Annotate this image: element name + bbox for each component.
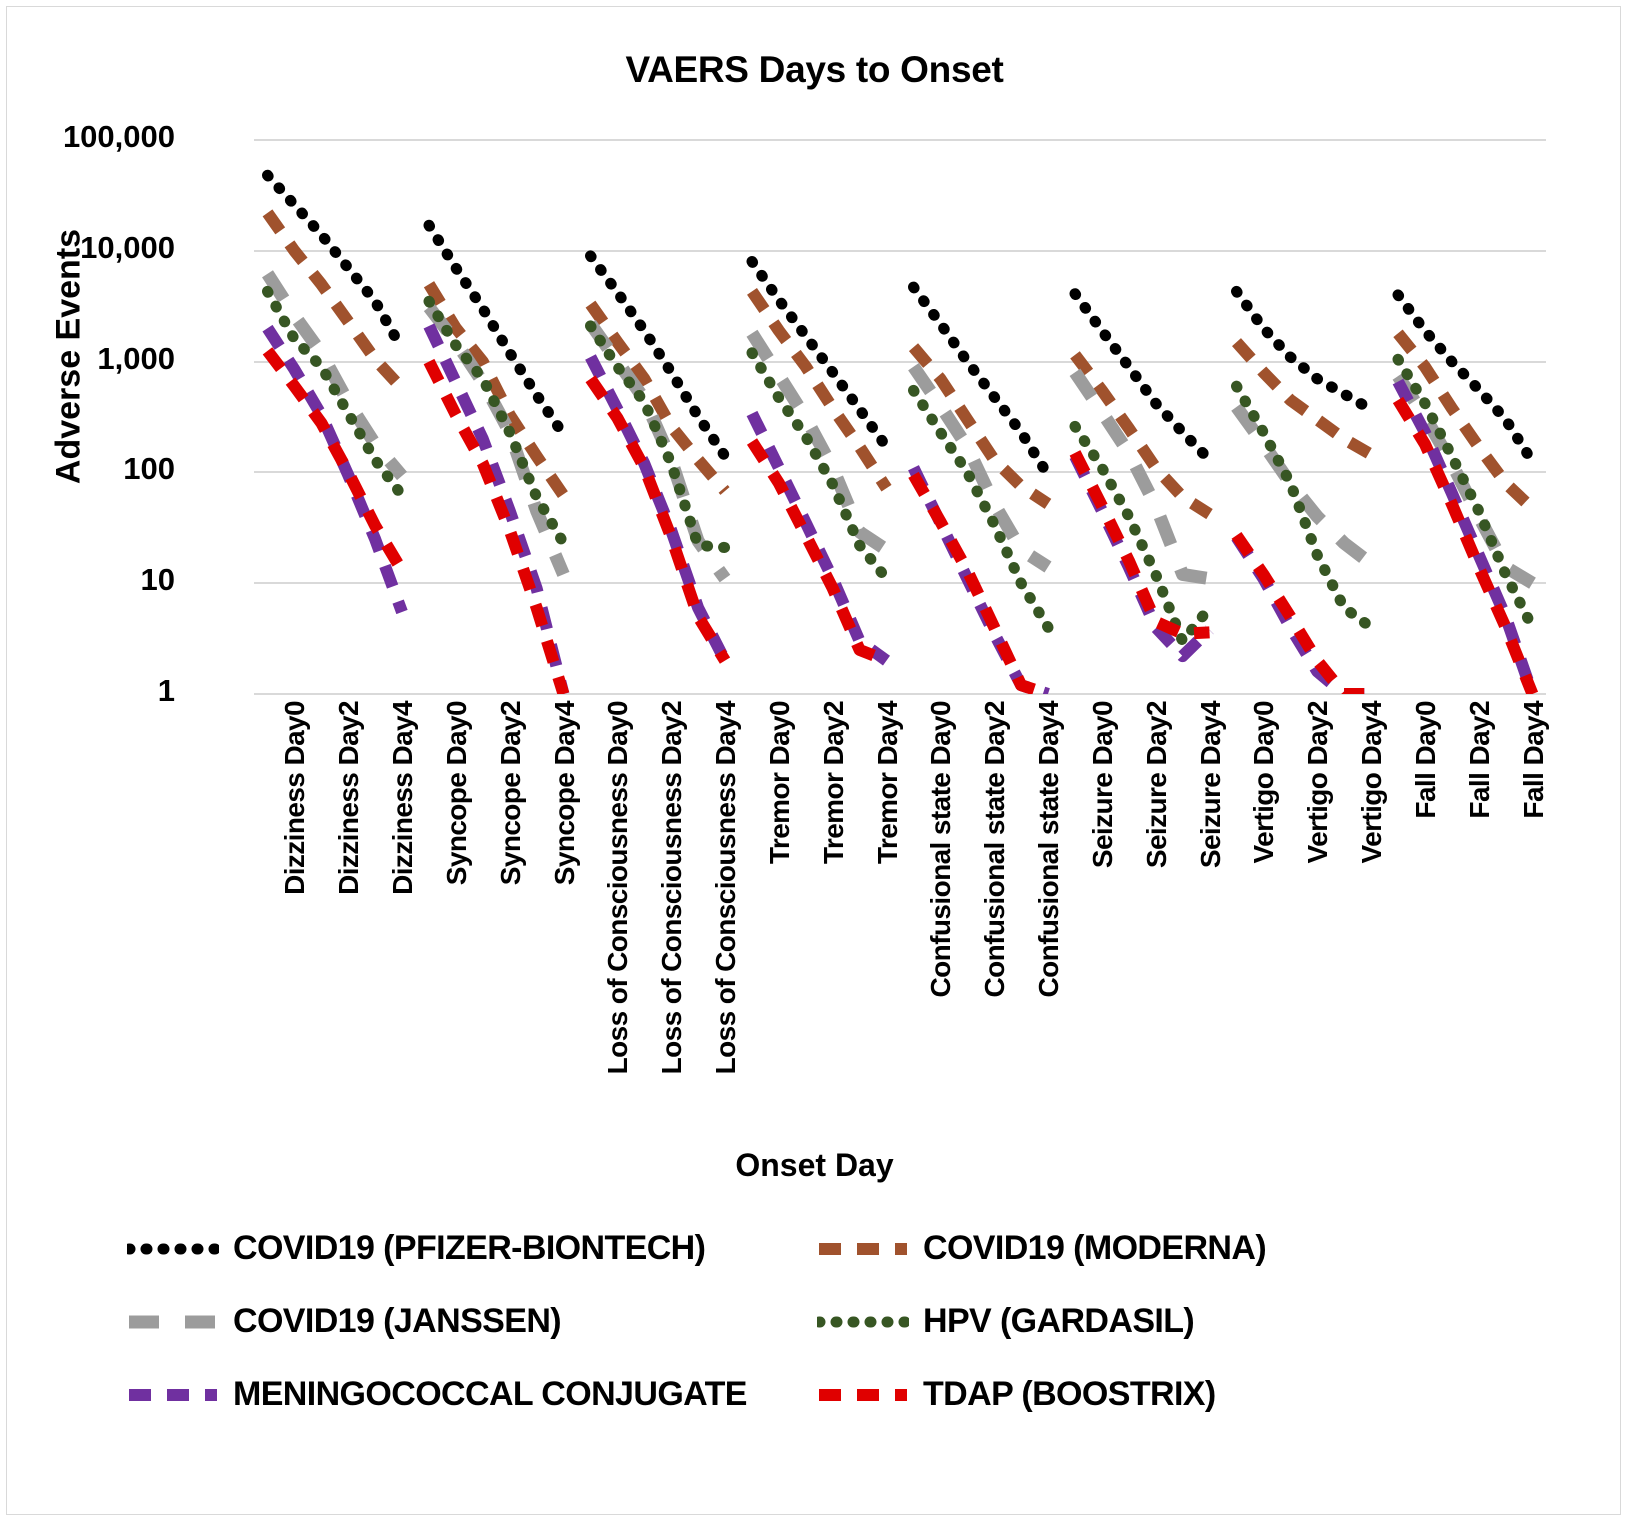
- legend-row: COVID19 (JANSSEN)HPV (GARDASIL): [127, 1302, 1527, 1341]
- plot-area: 100,00010,0001,000100101: [254, 140, 1546, 694]
- x-axis-tick-label: Vertigo Day2: [1302, 701, 1334, 863]
- x-axis-tick-label: Confusional state Day2: [979, 701, 1011, 997]
- x-axis-tick-label: Loss of Consciousness Day0: [602, 701, 634, 1074]
- y-axis-tick-label: 10: [0, 562, 175, 598]
- x-axis-tick-label: Confusional state Day4: [1033, 701, 1065, 997]
- x-axis-tick-label: Vertigo Day4: [1356, 701, 1388, 863]
- x-axis-tick-label: Dizziness Day4: [387, 701, 419, 895]
- x-axis-tick-label: Loss of Consciousness Day2: [656, 701, 688, 1074]
- chart-legend: COVID19 (PFIZER-BIONTECH)COVID19 (MODERN…: [127, 1229, 1527, 1448]
- x-axis-tick-label: Seizure Day2: [1141, 701, 1173, 868]
- legend-key-icon: [127, 1238, 219, 1260]
- x-axis-tick-label: Confusional state Day0: [925, 701, 957, 997]
- legend-label: TDAP (BOOSTRIX): [923, 1375, 1216, 1414]
- y-axis-tick-label: 100,000: [0, 119, 175, 155]
- x-axis-tick-label: Tremor Day4: [872, 701, 904, 864]
- x-axis-tick-label: Loss of Consciousness Day4: [710, 701, 742, 1074]
- legend-label: COVID19 (PFIZER-BIONTECH): [233, 1229, 705, 1268]
- series-4: [268, 326, 1533, 694]
- x-axis-tick-label: Fall Day0: [1410, 701, 1442, 819]
- y-axis-tick-label: 10,000: [0, 230, 175, 266]
- legend-item[interactable]: COVID19 (PFIZER-BIONTECH): [127, 1229, 817, 1268]
- x-axis-tick-label: Tremor Day0: [764, 701, 796, 864]
- x-axis-tick-label: Dizziness Day2: [333, 701, 365, 895]
- legend-key-icon: [817, 1311, 909, 1333]
- legend-label: MENINGOCOCCAL CONJUGATE: [233, 1375, 747, 1414]
- x-axis-tick-label: Fall Day2: [1464, 701, 1496, 819]
- legend-item[interactable]: COVID19 (JANSSEN): [127, 1302, 817, 1341]
- legend-label: COVID19 (MODERNA): [923, 1229, 1266, 1268]
- legend-key-icon: [127, 1311, 219, 1333]
- x-axis-tick-label: Tremor Day2: [818, 701, 850, 864]
- x-axis-tick-label: Dizziness Day0: [279, 701, 311, 895]
- y-axis-tick-label: 1: [0, 673, 175, 709]
- x-axis-tick-label: Fall Day4: [1518, 701, 1550, 819]
- chart-title: VAERS Days to Onset: [7, 49, 1622, 91]
- chart-frame: VAERS Days to Onset Adverse Events 100,0…: [6, 6, 1621, 1515]
- x-axis-tick-label: Syncope Day4: [549, 701, 581, 885]
- y-axis-tick-label: 100: [0, 451, 175, 487]
- legend-label: COVID19 (JANSSEN): [233, 1302, 561, 1341]
- series-5: [268, 351, 1533, 694]
- series-3: [268, 291, 1533, 641]
- x-axis-tick-label: Seizure Day4: [1195, 701, 1227, 868]
- series-1: [268, 213, 1533, 514]
- legend-item[interactable]: MENINGOCOCCAL CONJUGATE: [127, 1375, 817, 1414]
- x-axis-ticks: Dizziness Day0Dizziness Day2Dizziness Da…: [254, 701, 1546, 1131]
- x-axis-tick-label: Vertigo Day0: [1248, 701, 1280, 863]
- x-axis-tick-label: Syncope Day2: [495, 701, 527, 885]
- legend-item[interactable]: HPV (GARDASIL): [817, 1302, 1194, 1341]
- x-axis-tick-label: Seizure Day0: [1087, 701, 1119, 868]
- x-axis-title: Onset Day: [7, 1147, 1622, 1184]
- series-lines: [254, 140, 1546, 694]
- legend-item[interactable]: COVID19 (MODERNA): [817, 1229, 1266, 1268]
- legend-label: HPV (GARDASIL): [923, 1302, 1194, 1341]
- y-axis-tick-label: 1,000: [0, 341, 175, 377]
- legend-key-icon: [817, 1384, 909, 1406]
- legend-key-icon: [127, 1384, 219, 1406]
- legend-row: COVID19 (PFIZER-BIONTECH)COVID19 (MODERN…: [127, 1229, 1527, 1268]
- x-axis-tick-label: Syncope Day0: [441, 701, 473, 885]
- legend-item[interactable]: TDAP (BOOSTRIX): [817, 1375, 1216, 1414]
- legend-row: MENINGOCOCCAL CONJUGATETDAP (BOOSTRIX): [127, 1375, 1527, 1414]
- legend-key-icon: [817, 1238, 909, 1260]
